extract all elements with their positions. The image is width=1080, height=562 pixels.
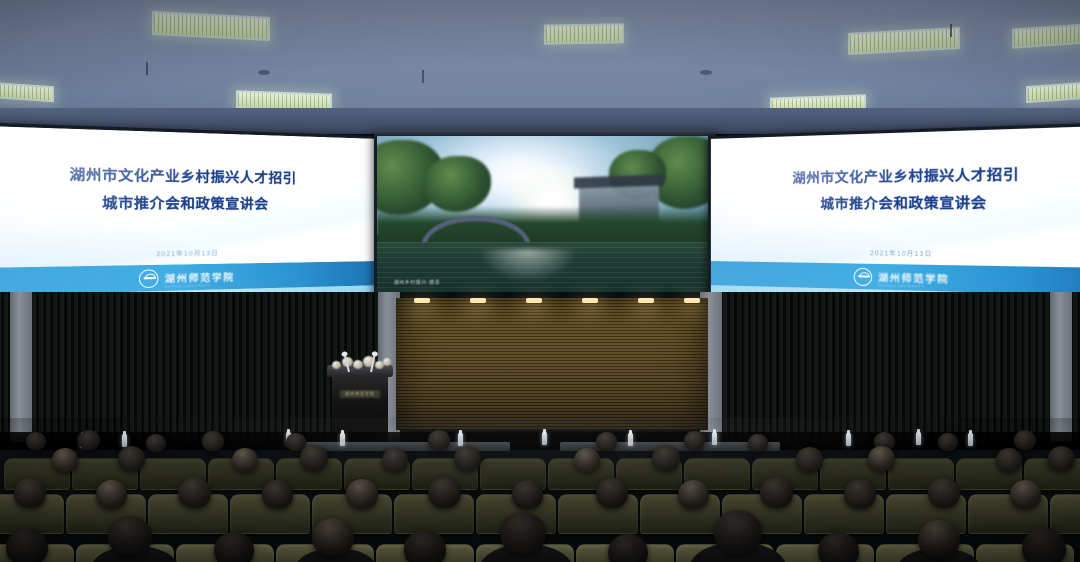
audience-head	[1048, 446, 1075, 471]
water-bottle	[846, 433, 851, 446]
ceiling-light-panel	[848, 27, 960, 55]
left-projection-screen[interactable]: 湖州市文化产业乡村振兴人才招引 城市推介会和政策宣讲会 2021年10月13日 …	[0, 122, 382, 317]
audience-head	[1010, 480, 1041, 509]
audience-head	[312, 518, 354, 556]
center-video-screen[interactable]: 湖州乡村振兴·德清	[374, 130, 716, 301]
ceiling-vent	[700, 70, 712, 75]
stage-downlight	[684, 298, 700, 303]
audience-seating	[0, 418, 1080, 562]
university-emblem-icon	[139, 269, 159, 288]
curved-screen-wall: 湖州市文化产业乡村振兴人才招引 城市推介会和政策宣讲会 2021年10月13日 …	[0, 118, 1080, 308]
video-water-ripples	[377, 242, 713, 298]
auditorium-seat	[1050, 494, 1080, 534]
stage-downlight	[526, 298, 542, 303]
audience-head	[454, 446, 481, 471]
audience-head	[118, 446, 145, 471]
left-slide-title-line1: 湖州市文化产业乡村振兴人才招引	[69, 164, 296, 188]
audience-head	[868, 446, 895, 471]
water-bottle	[542, 432, 547, 445]
ceiling-vent	[258, 70, 270, 75]
audience-head	[938, 433, 958, 451]
audience-head	[146, 434, 166, 452]
audience-head	[574, 448, 600, 472]
audience-head	[796, 447, 823, 472]
audience-head	[1022, 528, 1066, 562]
audience-head	[684, 431, 705, 450]
audience-head	[428, 477, 461, 508]
audience-head	[202, 431, 224, 451]
podium-nameplate-text: 湖州师范学院	[345, 391, 375, 397]
audience-head	[346, 479, 378, 509]
podium-nameplate: 湖州师范学院	[340, 390, 380, 398]
water-bottle	[122, 434, 127, 447]
stage-backdrop-wall	[396, 298, 708, 430]
audience-head	[996, 448, 1022, 472]
sprinkler-head	[950, 24, 952, 37]
audience-head	[52, 448, 78, 472]
stage-downlight	[638, 298, 654, 303]
audience-head	[178, 477, 211, 508]
audience-head	[404, 530, 446, 562]
stage-downlight	[414, 298, 430, 303]
audience-head	[262, 480, 293, 509]
stage-downlight	[582, 298, 598, 303]
right-slide-title-line1: 湖州市文化产业乡村振兴人才招引	[792, 164, 1019, 188]
audience-head	[382, 448, 408, 472]
left-slide-title-line2: 城市推介会和政策宣讲会	[102, 193, 269, 214]
audience-head	[918, 520, 960, 558]
sprinkler-head	[146, 62, 148, 75]
front-desk	[300, 442, 510, 451]
audience-head	[760, 477, 793, 508]
audience-head	[232, 448, 258, 472]
audience-head	[652, 445, 680, 471]
sprinkler-head	[422, 70, 424, 83]
water-bottle	[968, 433, 973, 446]
conference-hall-photo: 湖州市文化产业乡村振兴人才招引 城市推介会和政策宣讲会 2021年10月13日 …	[0, 0, 1080, 562]
audience-head	[108, 516, 152, 556]
water-bottle	[458, 433, 463, 446]
audience-head	[1014, 430, 1036, 450]
university-emblem-icon	[854, 267, 872, 285]
podium-flower-arrangement	[330, 356, 392, 372]
audience-head	[512, 480, 543, 509]
audience-head	[844, 479, 876, 509]
audience-head	[596, 478, 628, 508]
audience-head	[14, 478, 46, 508]
audience-head	[96, 480, 127, 509]
ceiling-light-panel	[152, 11, 270, 41]
audience-head	[300, 445, 328, 471]
audience-head	[678, 480, 709, 509]
audience-head	[608, 534, 648, 562]
audience-head	[714, 510, 762, 554]
right-slide-title-line2: 城市推介会和政策宣讲会	[820, 193, 986, 214]
water-bottle	[712, 432, 717, 445]
water-bottle	[916, 432, 921, 445]
audience-head	[214, 532, 254, 562]
audience-head	[428, 430, 450, 450]
right-slide: 湖州市文化产业乡村振兴人才招引 城市推介会和政策宣讲会 2021年10月13日 …	[711, 125, 1080, 312]
audience-head	[818, 532, 859, 562]
center-video-content: 湖州乡村振兴·德清	[377, 133, 713, 298]
stage-downlight	[470, 298, 486, 303]
audience-head	[6, 528, 48, 562]
left-slide: 湖州市文化产业乡村振兴人才招引 城市推介会和政策宣讲会 2021年10月13日 …	[0, 125, 379, 312]
ceiling-light-panel	[1026, 82, 1080, 103]
center-screen-bezel	[374, 130, 716, 136]
video-caption: 湖州乡村振兴·德清	[394, 279, 440, 286]
audience-head	[26, 432, 46, 450]
ceiling-light-panel	[0, 82, 54, 103]
right-projection-screen[interactable]: 湖州市文化产业乡村振兴人才招引 城市推介会和政策宣讲会 2021年10月13日 …	[708, 122, 1080, 316]
ceiling-light-panel	[544, 23, 624, 44]
audience-head	[596, 432, 617, 451]
audience-head	[748, 434, 768, 452]
audience-head	[928, 478, 960, 508]
audience-head	[78, 430, 100, 450]
water-bottle	[340, 433, 345, 446]
water-bottle	[628, 433, 633, 446]
audience-head	[500, 512, 546, 554]
ceiling-light-panel	[1012, 23, 1080, 48]
